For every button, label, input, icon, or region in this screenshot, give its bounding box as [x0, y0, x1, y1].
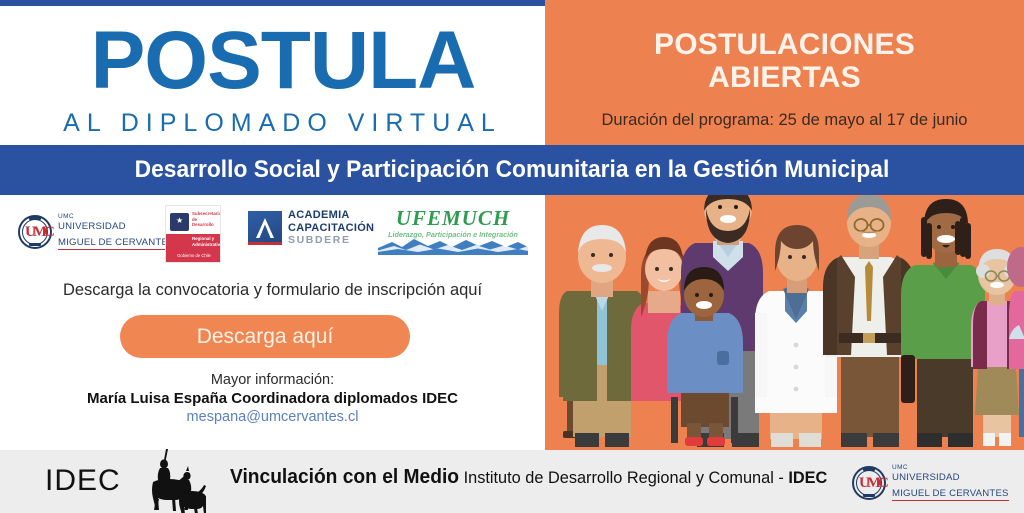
umc-seal-icon: UMC	[18, 215, 52, 249]
contact-label: Mayor información:	[0, 371, 545, 389]
download-instruction: Descarga la convocatoria y formulario de…	[0, 280, 545, 300]
umc-line2: UNIVERSIDAD	[58, 221, 175, 232]
status-line-1: POSTULACIONES	[545, 28, 1024, 61]
gov-footer: Gobierno de Chile	[166, 253, 221, 258]
logo-ufemuch: UFEMUCH Liderazgo, Participación e Integ…	[378, 207, 528, 255]
footer-tagline: Vinculación con el Medio Instituto de De…	[230, 464, 827, 491]
academia-chevron-icon	[248, 211, 282, 245]
logo-academia-subdere: ACADEMIA CAPACITACIÓN SUBDERE	[248, 209, 374, 246]
footer-institute: Instituto de Desarrollo Regional y Comun…	[464, 468, 789, 487]
ufemuch-mountain-icon	[378, 237, 528, 255]
program-duration: Duración del programa: 25 de mayo al 17 …	[545, 110, 1024, 130]
page-title: Desarrollo Social y Participación Comuni…	[36, 156, 988, 184]
footer-logo-umc: UMC UMC UNIVERSIDAD MIGUEL DE CERVANTES	[852, 464, 1009, 501]
umc-line2: UNIVERSIDAD	[892, 472, 1009, 483]
footer-institute-abbrev: IDEC	[788, 468, 827, 487]
contact-email-link[interactable]: mespana@umcervantes.cl	[0, 408, 545, 426]
content-left-panel: UMC UMC UNIVERSIDAD MIGUEL DE CERVANTES …	[0, 195, 545, 450]
academia-line2: CAPACITACIÓN	[288, 222, 374, 235]
hero-left-panel: POSTULA AL DIPLOMADO VIRTUAL	[0, 6, 545, 145]
umc-abbrev: UMC	[892, 464, 1009, 472]
don-quixote-silhouette-icon	[142, 448, 206, 513]
download-button[interactable]: Descarga aquí	[120, 315, 410, 358]
logo-gobierno-chile: ★ Subsecretaría de Desarrollo Regional y…	[165, 205, 221, 263]
footer-idec-label: IDEC	[45, 462, 121, 500]
umc-line3: MIGUEL DE CERVANTES	[58, 237, 175, 250]
subheadline-diplomado: AL DIPLOMADO VIRTUAL	[30, 110, 535, 136]
umc-monogram: UMC	[859, 474, 879, 492]
program-title-bar: Desarrollo Social y Participación Comuni…	[0, 145, 1024, 195]
footer: IDEC	[0, 450, 1024, 513]
logo-umc: UMC UMC UNIVERSIDAD MIGUEL DE CERVANTES	[18, 213, 175, 250]
academia-line3: SUBDERE	[288, 234, 374, 246]
contact-person: María Luisa España Coordinadora diplomad…	[0, 389, 545, 408]
umc-abbrev: UMC	[58, 213, 175, 221]
ufemuch-name: UFEMUCH	[378, 207, 528, 230]
partner-logos-row: UMC UMC UNIVERSIDAD MIGUEL DE CERVANTES …	[0, 203, 545, 265]
academia-line1: ACADEMIA	[288, 209, 374, 222]
status-line-2: ABIERTAS	[545, 61, 1024, 94]
hero-right-panel: POSTULACIONES ABIERTAS Duración del prog…	[545, 6, 1024, 145]
status-applications-open: POSTULACIONES ABIERTAS	[545, 28, 1024, 94]
footer-vinculacion: Vinculación con el Medio	[230, 466, 459, 488]
umc-monogram: UMC	[25, 223, 45, 241]
umc-line3: MIGUEL DE CERVANTES	[892, 488, 1009, 501]
illustration-group-of-people	[545, 195, 1024, 450]
umc-seal-icon: UMC	[852, 466, 886, 500]
promotional-banner: POSTULA AL DIPLOMADO VIRTUAL POSTULACION…	[0, 0, 1024, 513]
headline-postula: POSTULA	[38, 18, 528, 104]
gov-line2: de Desarrollo	[192, 217, 220, 228]
gov-line4: Administrativo	[192, 242, 220, 247]
